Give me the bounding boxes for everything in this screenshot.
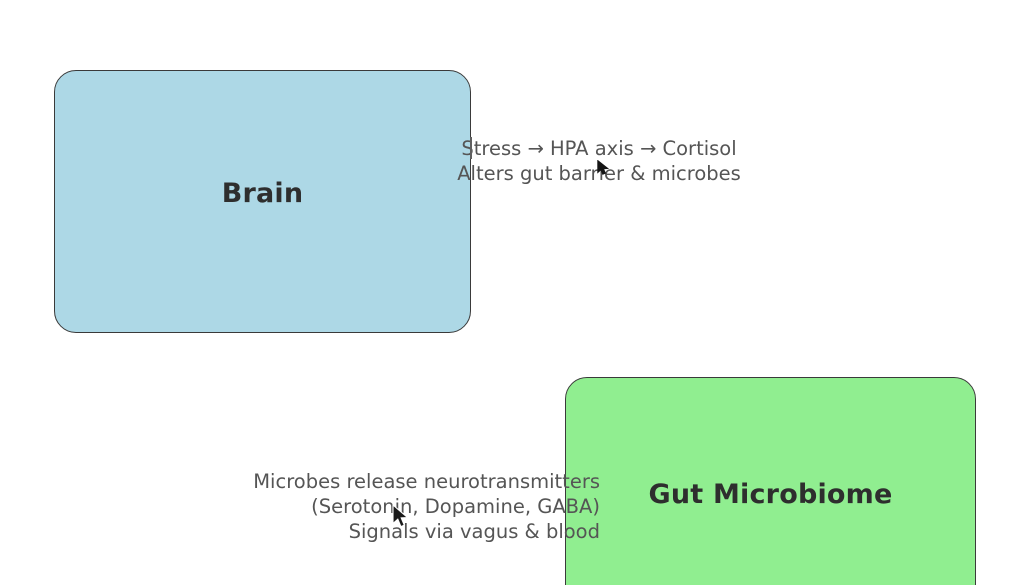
text-caret-artifact <box>470 137 472 159</box>
diagram-canvas: Brain Gut Microbiome Stress → HPA axis →… <box>0 0 1024 585</box>
edge-label-brain-to-gut-line-2: Alters gut barrier & microbes <box>430 161 768 186</box>
diagram-node-gut-microbiome-label: Gut Microbiome <box>648 479 892 510</box>
edge-label-gut-to-brain-line-3: Signals via vagus & blood <box>190 519 600 544</box>
edge-label-brain-to-gut-line-1: Stress → HPA axis → Cortisol <box>430 136 768 161</box>
diagram-node-brain-label: Brain <box>222 178 304 209</box>
edge-label-gut-to-brain-line-1: Microbes release neurotransmitters <box>190 469 600 494</box>
edge-label-gut-to-brain-line-2: (Serotonin, Dopamine, GABA) <box>190 494 600 519</box>
diagram-node-brain[interactable]: Brain <box>54 70 471 333</box>
edge-label-brain-to-gut: Stress → HPA axis → Cortisol Alters gut … <box>430 136 768 186</box>
edge-label-gut-to-brain: Microbes release neurotransmitters (Sero… <box>190 469 600 544</box>
diagram-node-gut-microbiome[interactable]: Gut Microbiome <box>565 377 976 585</box>
